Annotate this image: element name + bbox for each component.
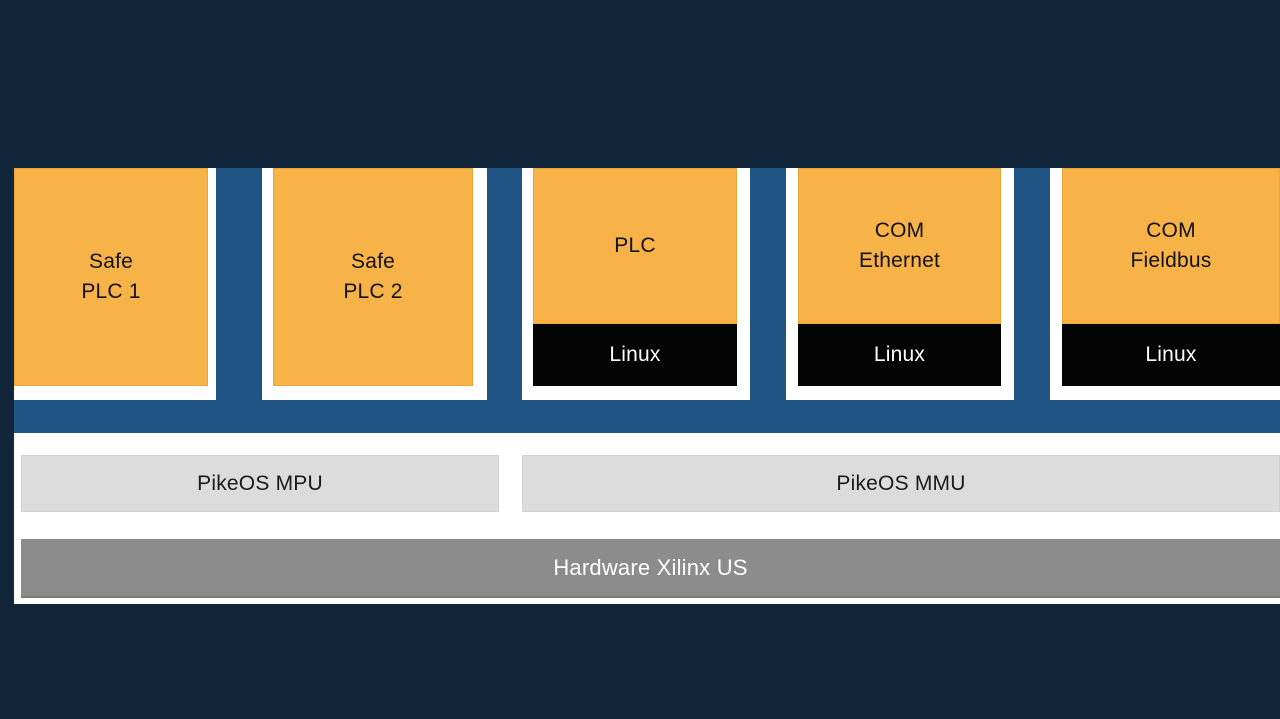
application-block-com-ethernet: COM Ethernet	[798, 168, 1001, 324]
partition-card-safe-plc-2[interactable]: Safe PLC 2	[262, 168, 487, 400]
architecture-diagram: Safe PLC 1 Safe PLC 2 PLC Linux	[0, 0, 1280, 719]
application-label-line-1: COM	[1131, 216, 1212, 246]
application-label-line-1: Safe	[81, 247, 140, 277]
kernel-band-pikeos-mmu[interactable]: PikeOS MMU	[522, 455, 1280, 512]
kernel-band-pikeos-mpu[interactable]: PikeOS MPU	[21, 455, 499, 512]
partition-inner-com-ethernet: COM Ethernet Linux	[798, 168, 1001, 386]
application-label-line-2: Ethernet	[859, 246, 940, 276]
partition-inner-safe-plc-1: Safe PLC 1	[14, 168, 208, 386]
application-block-safe-plc-1: Safe PLC 1	[14, 168, 208, 386]
application-label-line-2: PLC 2	[343, 277, 402, 307]
guest-os-block-plc: Linux	[533, 324, 737, 386]
application-block-com-fieldbus: COM Fieldbus	[1062, 168, 1280, 324]
application-block-safe-plc-2: Safe PLC 2	[273, 168, 473, 386]
application-block-plc: PLC	[533, 168, 737, 324]
application-label-line-2: Fieldbus	[1131, 246, 1212, 276]
application-label-line-1: PLC	[614, 231, 655, 261]
guest-os-block-com-fieldbus: Linux	[1062, 324, 1280, 386]
partition-card-com-fieldbus[interactable]: COM Fieldbus Linux	[1050, 168, 1280, 400]
guest-os-block-com-ethernet: Linux	[798, 324, 1001, 386]
platform-stack-plate: PikeOS MPU PikeOS MMU Hardware Xilinx US	[14, 433, 1280, 604]
partition-card-com-ethernet[interactable]: COM Ethernet Linux	[786, 168, 1014, 400]
hardware-band[interactable]: Hardware Xilinx US	[21, 539, 1280, 598]
partition-inner-safe-plc-2: Safe PLC 2	[273, 168, 473, 386]
partition-inner-plc: PLC Linux	[533, 168, 737, 386]
application-label-line-1: Safe	[343, 247, 402, 277]
application-label-line-1: COM	[859, 216, 940, 246]
partition-card-plc[interactable]: PLC Linux	[522, 168, 750, 400]
partition-card-safe-plc-1[interactable]: Safe PLC 1	[14, 168, 216, 400]
application-label-line-2: PLC 1	[81, 277, 140, 307]
partition-inner-com-fieldbus: COM Fieldbus Linux	[1062, 168, 1280, 386]
